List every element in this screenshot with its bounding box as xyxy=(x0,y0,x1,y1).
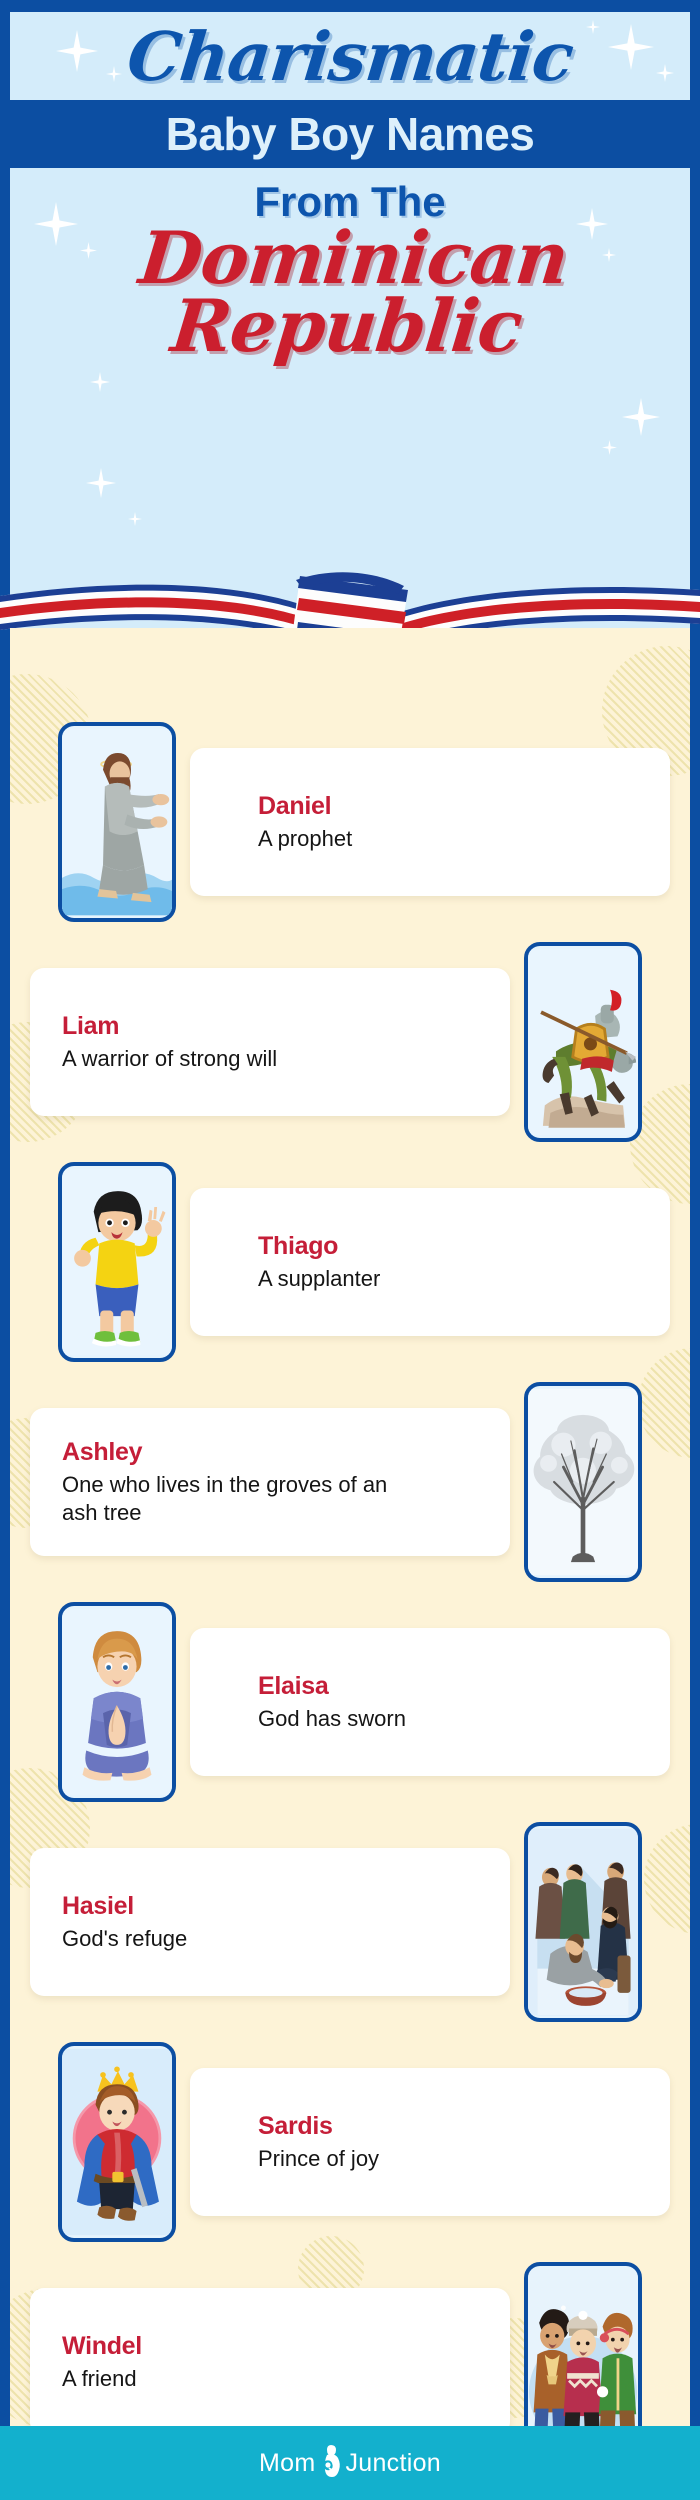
brand-logo[interactable]: Mom Junction xyxy=(259,2443,441,2484)
hero-country-line-2: Republic xyxy=(10,292,690,360)
sparkle-icon xyxy=(106,66,122,82)
name-row[interactable]: Daniel A prophet xyxy=(10,722,690,922)
meaning-label: A supplanter xyxy=(258,1265,588,1293)
footer-bar: Mom Junction xyxy=(0,2426,700,2500)
sparkle-icon xyxy=(586,20,600,34)
meaning-label: One who lives in the groves of an ash tr… xyxy=(62,1471,392,1526)
meaning-label: A warrior of strong will xyxy=(62,1045,392,1073)
boy-praying-icon xyxy=(58,1602,176,1802)
sparkle-icon xyxy=(90,372,110,392)
name-label: Daniel xyxy=(258,792,670,821)
mother-and-baby-icon xyxy=(317,2443,343,2484)
sparkle-icon xyxy=(656,64,674,82)
name-card[interactable]: Daniel A prophet xyxy=(190,748,670,896)
name-card[interactable]: Thiago A supplanter xyxy=(190,1188,670,1336)
name-card[interactable]: Windel A friend xyxy=(30,2288,510,2426)
sparkle-icon xyxy=(128,512,142,526)
three-friends-icon xyxy=(524,2262,642,2426)
name-label: Sardis xyxy=(258,2112,670,2141)
hero-country-name: Dominican Republic xyxy=(10,224,690,361)
name-label: Windel xyxy=(62,2332,510,2361)
name-row[interactable]: Hasiel God's refuge xyxy=(10,1822,690,2022)
subtitle-band: Baby Boy Names xyxy=(0,100,700,168)
hero-country-line-1: Dominican xyxy=(10,224,690,292)
name-card[interactable]: Liam A warrior of strong will xyxy=(30,968,510,1116)
prince-with-crown-icon xyxy=(58,2042,176,2242)
knight-on-horse-icon xyxy=(524,942,642,1142)
name-card[interactable]: Elaisa God has sworn xyxy=(190,1628,670,1776)
sparkle-icon xyxy=(602,440,617,455)
name-card[interactable]: Hasiel God's refuge xyxy=(30,1848,510,1996)
page-title-script: Charismatic xyxy=(124,17,577,96)
name-row[interactable]: Ashley One who lives in the groves of an… xyxy=(10,1382,690,1582)
meaning-label: A friend xyxy=(62,2365,392,2393)
names-list-section: Daniel A prophet Liam A warrior of stron… xyxy=(10,628,690,2426)
title-script-banner: Charismatic xyxy=(10,12,690,100)
name-label: Hasiel xyxy=(62,1892,510,1921)
name-card[interactable]: Ashley One who lives in the groves of an… xyxy=(30,1408,510,1556)
meaning-label: God has sworn xyxy=(258,1705,588,1733)
sparkle-icon xyxy=(622,398,660,436)
sparkle-icon xyxy=(608,24,654,70)
name-row[interactable]: Sardis Prince of joy xyxy=(10,2042,690,2242)
name-label: Thiago xyxy=(258,1232,670,1261)
brand-name-second: Junction xyxy=(345,2449,441,2478)
name-label: Liam xyxy=(62,1012,510,1041)
meaning-label: Prince of joy xyxy=(258,2145,588,2173)
sparkle-icon xyxy=(56,30,98,72)
brand-name-first: Mom xyxy=(259,2449,315,2478)
meaning-label: A prophet xyxy=(258,825,588,853)
name-card[interactable]: Sardis Prince of joy xyxy=(190,2068,670,2216)
subtitle-text: Baby Boy Names xyxy=(166,107,535,161)
name-row[interactable]: Thiago A supplanter xyxy=(10,1162,690,1362)
name-label: Elaisa xyxy=(258,1672,670,1701)
name-row[interactable]: Liam A warrior of strong will xyxy=(10,942,690,1142)
name-row[interactable]: Elaisa God has sworn xyxy=(10,1602,690,1802)
hero-panel: From The Dominican Republic xyxy=(10,168,690,628)
name-label: Ashley xyxy=(62,1438,510,1467)
infographic-poster: Charismatic Baby Boy Names From The Domi… xyxy=(0,0,700,2500)
boy-waving-icon xyxy=(58,1162,176,1362)
header-section: Charismatic Baby Boy Names From The Domi… xyxy=(0,0,700,640)
name-row[interactable]: Windel A friend xyxy=(10,2262,690,2426)
ash-tree-icon xyxy=(524,1382,642,1582)
meaning-label: God's refuge xyxy=(62,1925,392,1953)
sparkle-icon xyxy=(86,468,116,498)
jesus-walking-on-water-icon xyxy=(58,722,176,922)
washing-feet-scene-icon xyxy=(524,1822,642,2022)
